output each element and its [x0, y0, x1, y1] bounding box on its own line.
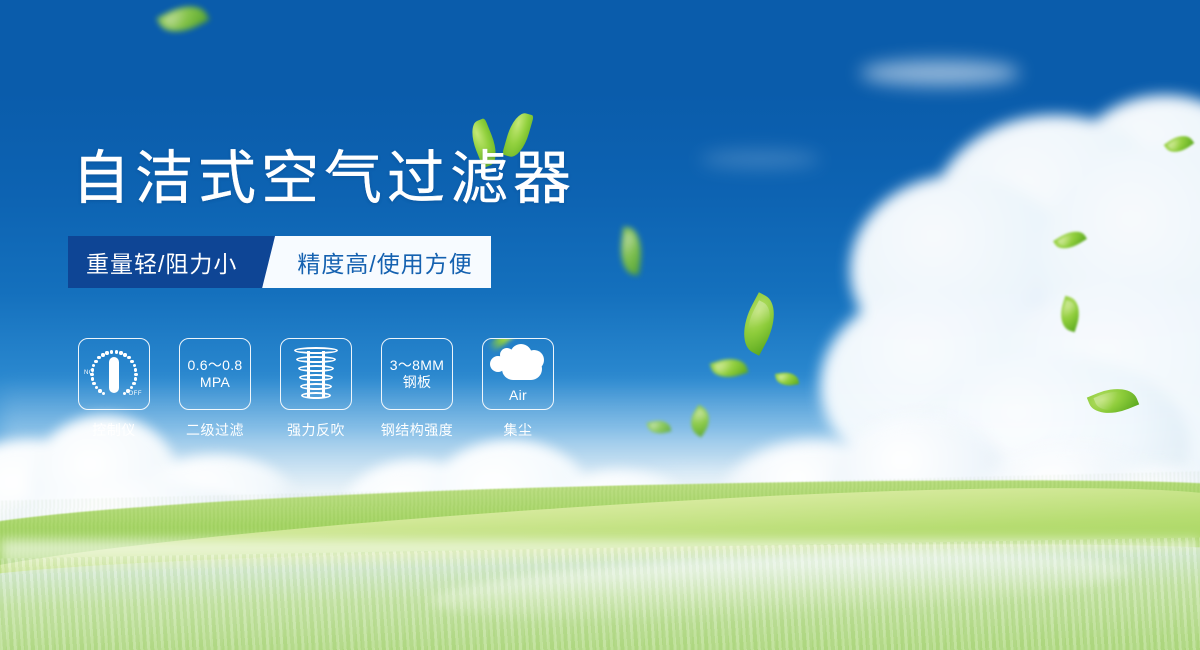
pressure-value: 0.6～0.8 — [187, 357, 242, 374]
air-label: Air — [509, 387, 527, 404]
leaf-icon — [157, 0, 210, 41]
page-title: 自洁式空气过滤器 — [72, 146, 576, 212]
feature-item[interactable]: 强力反吹 — [280, 338, 352, 440]
tag-secondary: 精度高/使用方便 — [291, 236, 490, 288]
tag-slant-divider — [257, 236, 291, 288]
feature-item[interactable]: 3～8MM 钢板 钢结构强度 — [381, 338, 453, 440]
leaf-icon — [617, 227, 645, 276]
pressure-unit: MPA — [200, 374, 230, 391]
feature-list: NO OFF 控制仪 0.6～0.8 MPA 二级过滤 — [78, 338, 554, 440]
gauge-icon: NO OFF — [78, 338, 150, 410]
coil-icon — [280, 338, 352, 410]
feature-caption: 二级过滤 — [186, 420, 244, 440]
feature-caption: 集尘 — [504, 420, 533, 440]
wispy-cloud — [860, 60, 1020, 86]
leaf-icon — [733, 292, 786, 356]
feature-caption: 控制仪 — [92, 420, 136, 440]
pressure-icon: 0.6～0.8 MPA — [179, 338, 251, 410]
feature-item[interactable]: 0.6～0.8 MPA 二级过滤 — [179, 338, 251, 440]
steel-icon: 3～8MM 钢板 — [381, 338, 453, 410]
feature-caption: 钢结构强度 — [381, 420, 454, 440]
gauge-dial: NO OFF — [84, 344, 144, 404]
promo-banner: 自洁式空气过滤器 重量轻/阻力小 精度高/使用方便 NO OFF 控制仪 0.6… — [0, 0, 1200, 650]
steel-thickness: 3～8MM — [390, 357, 444, 374]
air-cloud-icon: Air — [482, 338, 554, 410]
cloud-shape — [490, 344, 546, 386]
coil-shape — [293, 347, 339, 401]
feature-caption: 强力反吹 — [287, 420, 345, 440]
feature-item[interactable]: Air 集尘 — [482, 338, 554, 440]
tag-primary: 重量轻/阻力小 — [68, 236, 257, 288]
subtitle-tagbar: 重量轻/阻力小 精度高/使用方便 — [68, 236, 491, 288]
feature-item[interactable]: NO OFF 控制仪 — [78, 338, 150, 440]
gauge-label-off: OFF — [129, 391, 143, 397]
steel-material: 钢板 — [403, 374, 432, 391]
wispy-cloud — [700, 150, 820, 168]
